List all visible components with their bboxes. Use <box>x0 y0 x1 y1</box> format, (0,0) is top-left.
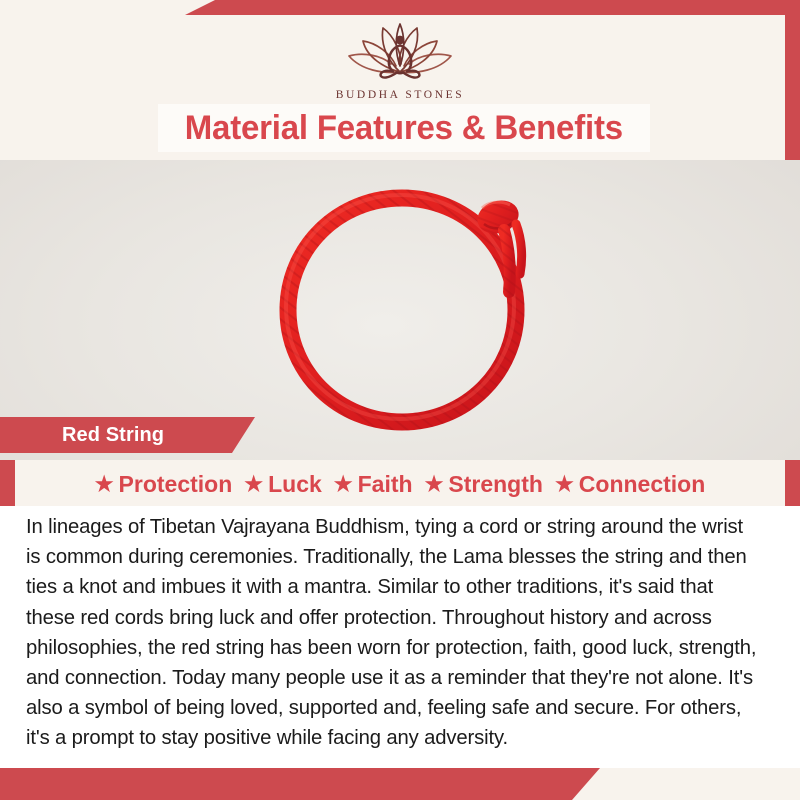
benefit-item: ★ Faith <box>334 471 413 498</box>
brand-logo: BUDDHA STONES <box>0 14 800 101</box>
description-paragraph: In lineages of Tibetan Vajrayana Buddhis… <box>26 512 763 754</box>
benefit-label: Strength <box>448 471 543 498</box>
benefit-label: Luck <box>268 471 322 498</box>
hero-image-region <box>0 160 800 460</box>
star-icon: ★ <box>334 474 353 495</box>
star-icon: ★ <box>95 474 114 495</box>
infographic-page: BUDDHA STONES Material Features & Benefi… <box>0 0 800 800</box>
benefit-label: Protection <box>119 471 233 498</box>
lotus-meditation-icon <box>325 14 475 86</box>
benefit-label: Faith <box>358 471 413 498</box>
star-icon: ★ <box>555 474 574 495</box>
title-banner: Material Features & Benefits <box>158 104 650 152</box>
benefit-label: Connection <box>579 471 706 498</box>
benefit-item: ★ Connection <box>555 471 705 498</box>
page-title: Material Features & Benefits <box>185 109 623 148</box>
star-icon: ★ <box>425 474 444 495</box>
red-string-bracelet-illustration <box>232 160 572 460</box>
benefits-row: ★ Protection ★ Luck ★ Faith ★ Strength ★… <box>0 462 800 506</box>
brand-wordmark: BUDDHA STONES <box>336 89 464 101</box>
decor-bottom-band <box>0 768 800 800</box>
benefit-item: ★ Luck <box>244 471 322 498</box>
star-icon: ★ <box>244 474 263 495</box>
description-block: In lineages of Tibetan Vajrayana Buddhis… <box>0 506 800 768</box>
material-label: Red String <box>62 424 164 447</box>
material-label-banner: Red String <box>0 417 255 453</box>
benefit-item: ★ Strength <box>425 471 543 498</box>
benefit-item: ★ Protection <box>95 471 233 498</box>
